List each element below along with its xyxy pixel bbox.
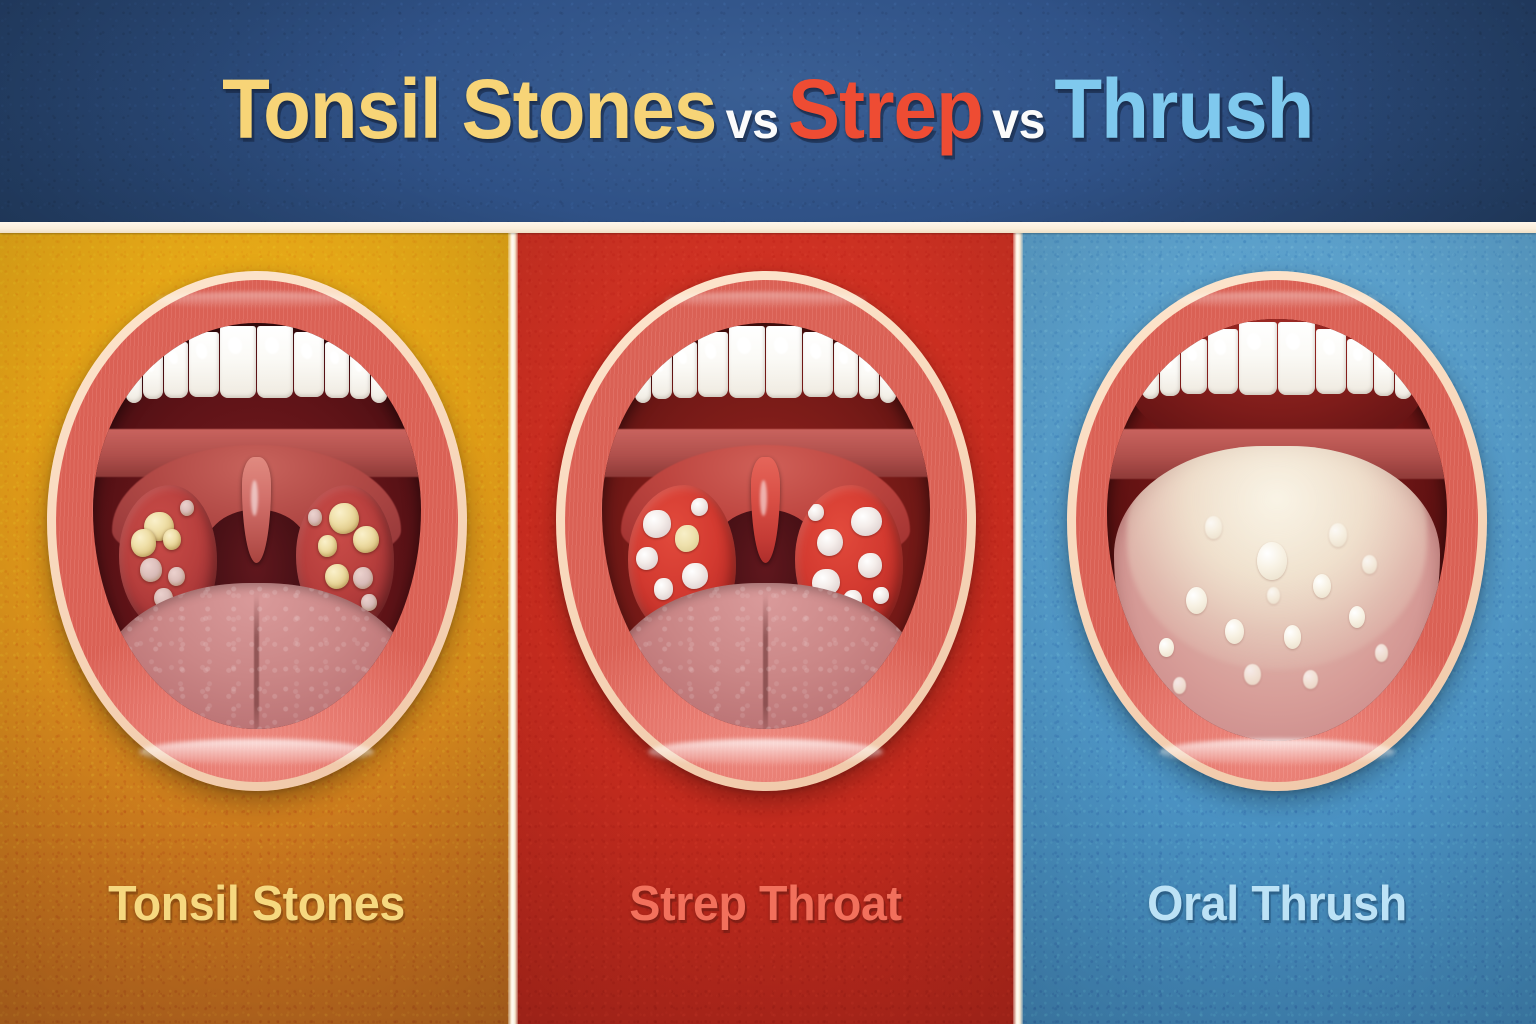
tooth bbox=[673, 342, 698, 398]
thrush-curd bbox=[1313, 574, 1331, 598]
tooth bbox=[698, 332, 728, 397]
tooth bbox=[1239, 322, 1276, 395]
tooth bbox=[1208, 329, 1239, 394]
mouth-cavity bbox=[1107, 319, 1447, 741]
tooth bbox=[635, 367, 651, 403]
thrush-curd bbox=[1159, 638, 1174, 657]
page-title: Tonsil StonesvsStrepvsThrush bbox=[0, 0, 1536, 222]
panel-tonsil-stones[interactable]: Tonsil Stones bbox=[0, 233, 513, 1024]
thrush-curd bbox=[1244, 664, 1260, 685]
tooth bbox=[1181, 339, 1207, 394]
tooth bbox=[652, 354, 672, 400]
thrush-curd bbox=[1362, 555, 1377, 574]
tooth bbox=[1347, 339, 1373, 394]
tonsil-stone bbox=[353, 526, 379, 552]
infographic-root: Tonsil StonesvsStrepvsThrush bbox=[0, 0, 1536, 1024]
tooth bbox=[371, 367, 387, 403]
exudate-patch bbox=[691, 498, 708, 517]
mouth-cavity bbox=[602, 323, 930, 729]
thrush-curd bbox=[1205, 516, 1221, 538]
title-part-strep: Strep bbox=[788, 67, 983, 151]
tonsil-stone bbox=[180, 500, 194, 516]
title-separator-2: vs bbox=[983, 95, 1054, 147]
tonsil-stone bbox=[163, 529, 181, 549]
exudate-patch bbox=[808, 504, 824, 521]
coated-tongue bbox=[1114, 446, 1440, 741]
upper-teeth-row bbox=[1107, 319, 1447, 446]
mouth-illustration-tonsil-stones bbox=[47, 271, 467, 791]
header-divider-band bbox=[0, 222, 1536, 233]
tongue bbox=[608, 583, 923, 729]
panel-caption-oral-thrush: Oral Thrush bbox=[1031, 876, 1523, 932]
tonsil-stone bbox=[131, 529, 157, 557]
exudate-patch bbox=[636, 547, 658, 570]
tooth bbox=[164, 342, 189, 398]
mouth-illustration-strep-throat bbox=[556, 271, 976, 791]
mouth-illustration-oral-thrush bbox=[1067, 271, 1487, 791]
exudate-patch bbox=[858, 553, 882, 578]
panel-strep-throat[interactable]: Strep Throat bbox=[513, 233, 1018, 1024]
tooth bbox=[1316, 329, 1347, 394]
thrush-curd bbox=[1375, 644, 1388, 662]
panel-caption-strep-throat: Strep Throat bbox=[526, 876, 1006, 932]
exudate-patch bbox=[817, 529, 843, 557]
thrush-curd bbox=[1186, 587, 1207, 614]
comparison-panels: Tonsil Stones bbox=[0, 233, 1536, 1024]
tooth bbox=[729, 326, 765, 398]
tonsil-stone bbox=[308, 509, 323, 527]
tooth bbox=[350, 354, 370, 400]
tongue bbox=[99, 583, 414, 729]
tonsil-stone bbox=[140, 558, 162, 581]
lower-lip-highlight bbox=[1159, 739, 1394, 765]
tooth bbox=[143, 354, 163, 400]
tonsil-stone bbox=[329, 503, 359, 534]
title-part-thrush: Thrush bbox=[1055, 67, 1314, 151]
tooth bbox=[1374, 351, 1394, 396]
tooth bbox=[294, 332, 324, 397]
tooth bbox=[257, 326, 293, 398]
tooth bbox=[126, 367, 142, 403]
header-banner: Tonsil StonesvsStrepvsThrush bbox=[0, 0, 1536, 222]
tooth bbox=[1142, 364, 1159, 399]
panel-oral-thrush[interactable]: Oral Thrush bbox=[1018, 233, 1536, 1024]
tooth bbox=[220, 326, 256, 398]
tooth bbox=[880, 367, 896, 403]
tooth bbox=[1278, 322, 1315, 395]
tooth bbox=[1160, 351, 1180, 396]
lower-lip-highlight bbox=[139, 739, 374, 765]
tonsil-stone bbox=[318, 535, 338, 557]
tooth bbox=[189, 332, 219, 397]
tooth bbox=[325, 342, 350, 398]
tooth bbox=[859, 354, 879, 400]
title-separator-1: vs bbox=[717, 95, 788, 147]
panel-caption-tonsil-stones: Tonsil Stones bbox=[13, 876, 500, 932]
thrush-curd bbox=[1257, 542, 1286, 580]
title-part-tonsil-stones: Tonsil Stones bbox=[222, 67, 716, 151]
exudate-patch bbox=[643, 510, 671, 538]
tooth bbox=[1395, 364, 1412, 399]
tooth bbox=[803, 332, 833, 397]
exudate-patch bbox=[675, 525, 699, 551]
mouth-cavity bbox=[93, 323, 421, 729]
tooth bbox=[834, 342, 859, 398]
thrush-curd bbox=[1303, 670, 1318, 689]
tooth bbox=[766, 326, 802, 398]
upper-teeth-row bbox=[93, 323, 421, 445]
thrush-curd bbox=[1173, 677, 1186, 695]
exudate-patch bbox=[851, 507, 881, 536]
thrush-curd bbox=[1329, 523, 1347, 547]
upper-teeth-row bbox=[602, 323, 930, 445]
lower-lip-highlight bbox=[648, 739, 883, 765]
